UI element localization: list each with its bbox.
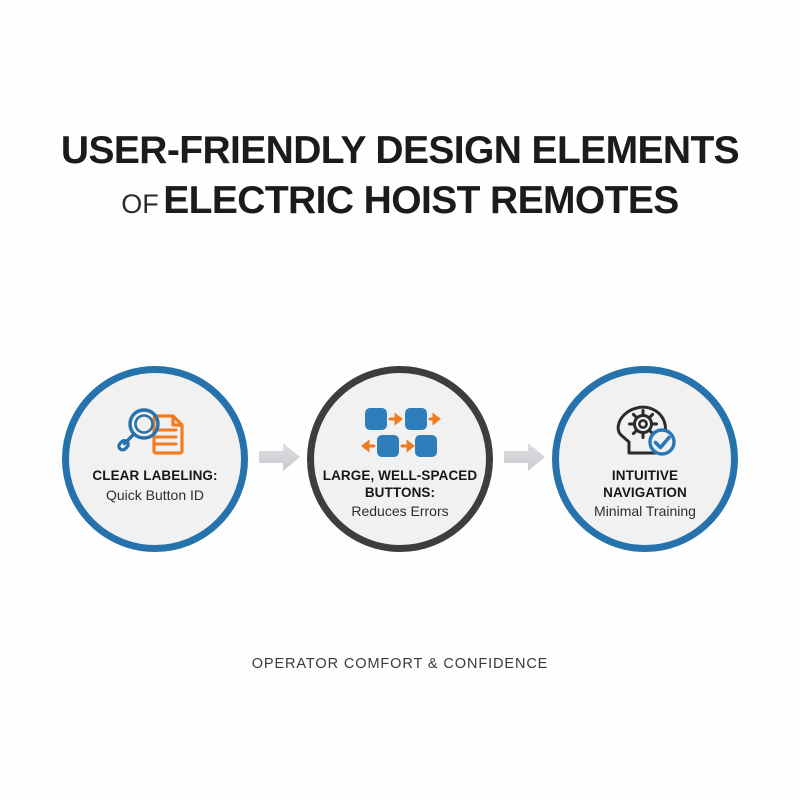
node-3-labels: INTUITIVE NAVIGATION Minimal Training <box>586 468 704 520</box>
footer-text: OPERATOR COMFORT & CONFIDENCE <box>252 656 549 672</box>
title-subject: ELECTRIC HOIST REMOTES <box>163 179 679 222</box>
node-2-labels: LARGE, WELL-SPACED BUTTONS: Reduces Erro… <box>315 468 486 520</box>
process-row: CLEAR LABELING: Quick Button ID <box>0 366 800 552</box>
node-clear-labeling[interactable]: CLEAR LABELING: Quick Button ID <box>62 366 248 552</box>
node-large-buttons[interactable]: LARGE, WELL-SPACED BUTTONS: Reduces Erro… <box>307 366 493 552</box>
footer-caption: OPERATOR COMFORT & CONFIDENCE <box>0 655 800 673</box>
title-line-1: USER-FRIENDLY DESIGN ELEMENTS <box>0 128 800 174</box>
node-3-title-line-1: INTUITIVE <box>594 468 696 485</box>
node-2-title-line-1: LARGE, WELL-SPACED <box>323 468 478 485</box>
node-2-subtitle: Reduces Errors <box>323 502 478 520</box>
head-gear-check-icon <box>607 399 683 465</box>
node-1-subtitle: Quick Button ID <box>92 486 217 504</box>
node-3-title-line-2: NAVIGATION <box>594 485 696 502</box>
node-3-subtitle: Minimal Training <box>594 502 696 520</box>
node-1-labels: CLEAR LABELING: Quick Button ID <box>84 468 225 504</box>
node-intuitive-navigation[interactable]: INTUITIVE NAVIGATION Minimal Training <box>552 366 738 552</box>
title-line-2: OF ELECTRIC HOIST REMOTES <box>0 176 800 234</box>
button-grid-arrows-icon <box>357 399 443 465</box>
arrow-right-icon-2 <box>504 442 546 472</box>
page-title: USER-FRIENDLY DESIGN ELEMENTS OF ELECTRI… <box>0 128 800 234</box>
magnifier-document-icon <box>116 399 194 465</box>
node-1-title: CLEAR LABELING: <box>92 468 217 485</box>
node-2-title-line-2: BUTTONS: <box>323 485 478 502</box>
title-of-word: OF <box>121 189 159 219</box>
infographic-canvas: USER-FRIENDLY DESIGN ELEMENTS OF ELECTRI… <box>0 0 800 800</box>
arrow-right-icon-1 <box>259 442 301 472</box>
